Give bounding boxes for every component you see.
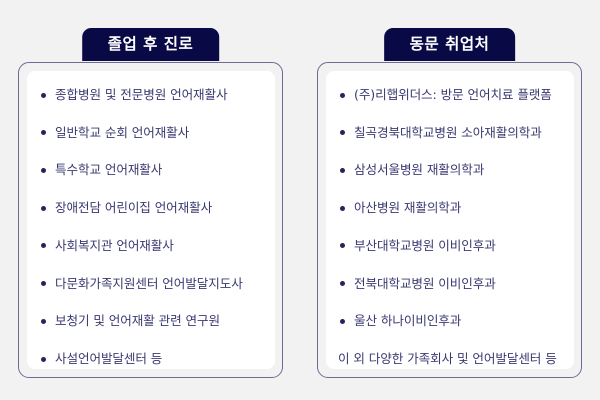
bullet-icon xyxy=(340,93,345,98)
bullet-icon xyxy=(41,168,46,173)
alumni-employers-list: (주)리햅위더스: 방문 언어치료 플랫폼 칠곡경북대학교병원 소아재활의학과 … xyxy=(338,87,564,367)
list-item: 다문화가족지원센터 언어발달지도사 xyxy=(39,276,265,292)
panel-frame-career-paths: 종합병원 및 전문병원 언어재활사 일반학교 순회 언어재활사 특수학교 언어재… xyxy=(18,62,283,378)
bullet-icon xyxy=(340,206,345,211)
list-item: 삼성서울병원 재활의학과 xyxy=(338,162,564,178)
list-item-label: 일반학교 순회 언어재활사 xyxy=(55,125,189,140)
list-item-label: 아산병원 재활의학과 xyxy=(354,200,461,215)
panels-container: 졸업 후 진로 종합병원 및 전문병원 언어재활사 일반학교 순회 언어재활사 xyxy=(18,28,582,378)
list-item: 종합병원 및 전문병원 언어재활사 xyxy=(39,87,265,103)
list-item: 전북대학교병원 이비인후과 xyxy=(338,276,564,292)
panel-title-badge-alumni-employers: 동문 취업처 xyxy=(384,28,516,61)
list-item-label: 전북대학교병원 이비인후과 xyxy=(354,276,496,291)
list-item-label: 이 외 다양한 가족회사 및 언어발달센터 등 xyxy=(338,351,557,366)
bullet-icon xyxy=(41,243,46,248)
bullet-icon xyxy=(340,130,345,135)
bullet-icon xyxy=(41,357,46,362)
list-item: 울산 하나이비인후과 xyxy=(338,313,564,329)
list-item-label: 부산대학교병원 이비인후과 xyxy=(354,238,496,253)
bullet-icon xyxy=(340,168,345,173)
list-item: 보청기 및 언어재활 관련 연구원 xyxy=(39,313,265,329)
list-item: (주)리햅위더스: 방문 언어치료 플랫폼 xyxy=(338,87,564,103)
bullet-icon xyxy=(41,206,46,211)
list-item: 특수학교 언어재활사 xyxy=(39,162,265,178)
list-item: 사회복지관 언어재활사 xyxy=(39,238,265,254)
panel-frame-alumni-employers: (주)리햅위더스: 방문 언어치료 플랫폼 칠곡경북대학교병원 소아재활의학과 … xyxy=(317,62,582,378)
bullet-icon xyxy=(340,243,345,248)
list-item-label: 삼성서울병원 재활의학과 xyxy=(354,162,484,177)
list-item-note: 이 외 다양한 가족회사 및 언어발달센터 등 xyxy=(338,351,564,367)
bullet-icon xyxy=(41,319,46,324)
list-item-label: 장애전담 어린이집 언어재활사 xyxy=(55,200,212,215)
list-item-label: 종합병원 및 전문병원 언어재활사 xyxy=(55,87,228,102)
list-item-label: 칠곡경북대학교병원 소아재활의학과 xyxy=(354,125,542,140)
list-item-label: 울산 하나이비인후과 xyxy=(354,313,461,328)
list-item: 부산대학교병원 이비인후과 xyxy=(338,238,564,254)
list-item-label: 다문화가족지원센터 언어발달지도사 xyxy=(55,276,243,291)
list-item: 칠곡경북대학교병원 소아재활의학과 xyxy=(338,125,564,141)
bullet-icon xyxy=(340,319,345,324)
bullet-icon xyxy=(41,281,46,286)
list-item-label: 사설언어발달센터 등 xyxy=(55,351,162,366)
list-item: 아산병원 재활의학과 xyxy=(338,200,564,216)
list-item: 장애전담 어린이집 언어재활사 xyxy=(39,200,265,216)
bullet-icon xyxy=(41,130,46,135)
panel-title-badge-career-paths: 졸업 후 진로 xyxy=(82,28,220,61)
list-item-label: 사회복지관 언어재활사 xyxy=(55,238,174,253)
panel-card-alumni-employers: (주)리햅위더스: 방문 언어치료 플랫폼 칠곡경북대학교병원 소아재활의학과 … xyxy=(326,71,574,369)
bullet-icon xyxy=(340,281,345,286)
bullet-icon xyxy=(41,93,46,98)
list-item: 일반학교 순회 언어재활사 xyxy=(39,125,265,141)
list-item-label: (주)리햅위더스: 방문 언어치료 플랫폼 xyxy=(354,87,552,102)
list-item-label: 특수학교 언어재활사 xyxy=(55,162,162,177)
career-info-board: 졸업 후 진로 종합병원 및 전문병원 언어재활사 일반학교 순회 언어재활사 xyxy=(0,0,600,400)
career-paths-list: 종합병원 및 전문병원 언어재활사 일반학교 순회 언어재활사 특수학교 언어재… xyxy=(39,87,265,367)
panel-card-career-paths: 종합병원 및 전문병원 언어재활사 일반학교 순회 언어재활사 특수학교 언어재… xyxy=(27,71,275,369)
list-item: 사설언어발달센터 등 xyxy=(39,351,265,367)
panel-career-paths: 졸업 후 진로 종합병원 및 전문병원 언어재활사 일반학교 순회 언어재활사 xyxy=(18,28,283,378)
panel-alumni-employers: 동문 취업처 (주)리햅위더스: 방문 언어치료 플랫폼 칠곡경북대학교병원 소… xyxy=(317,28,582,378)
list-item-label: 보청기 및 언어재활 관련 연구원 xyxy=(55,313,220,328)
